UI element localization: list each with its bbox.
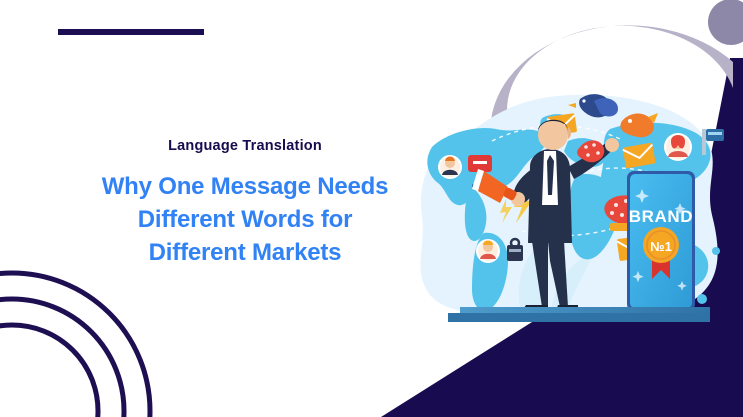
stage-platform	[448, 307, 710, 322]
avatar-icon-right-lower	[664, 199, 692, 227]
hair	[538, 120, 568, 131]
businessman-figure	[472, 120, 619, 311]
avatar-icon-left	[438, 155, 462, 179]
flag-icon	[702, 129, 724, 155]
shoe-left	[522, 305, 548, 311]
badge-circle	[643, 227, 679, 263]
connection-lines	[492, 126, 672, 236]
phone-badge-label: №1	[650, 239, 672, 254]
mailbox-icon-left	[468, 155, 492, 188]
headline-line-3: Different Markets	[60, 237, 430, 270]
avatar-icon-bottom-left	[476, 239, 500, 263]
page-title: Why One Message Needs Different Words fo…	[60, 171, 430, 270]
necktie	[547, 155, 554, 195]
headline-line-2: Different Words for	[60, 204, 430, 237]
lightning-icon	[500, 187, 532, 223]
shoe-right	[556, 305, 578, 311]
banner-canvas: BRAND №1	[0, 0, 743, 417]
text-block: Language Translation Why One Message Nee…	[60, 138, 430, 270]
grey-arc-decoration	[483, 0, 743, 140]
top-left-rule	[58, 29, 204, 35]
small-megaphone-icon	[577, 140, 604, 162]
trophy-icon	[638, 197, 668, 228]
mailbox-icon-right	[620, 113, 658, 137]
eyebrow-label: Language Translation	[60, 138, 430, 155]
lock-icon	[507, 239, 523, 261]
background-blob	[421, 95, 718, 317]
envelope-icon-right-lower	[617, 235, 652, 261]
brand-phone: BRAND №1	[627, 171, 695, 311]
world-map	[427, 114, 720, 311]
leaf-decorations	[519, 235, 690, 317]
envelope-icon-right-upper	[622, 143, 655, 169]
megaphone-icon	[472, 169, 518, 203]
envelope-icon-top	[547, 113, 577, 136]
phone-brand-label: BRAND	[629, 207, 693, 226]
sparkle-decorations	[632, 189, 686, 291]
gift-icon	[604, 195, 642, 231]
headline-line-1: Why One Message Needs	[60, 171, 430, 204]
ribbon-shape	[652, 251, 670, 279]
avatar-icon-red-hair	[664, 133, 692, 161]
dove-icon	[568, 94, 618, 117]
